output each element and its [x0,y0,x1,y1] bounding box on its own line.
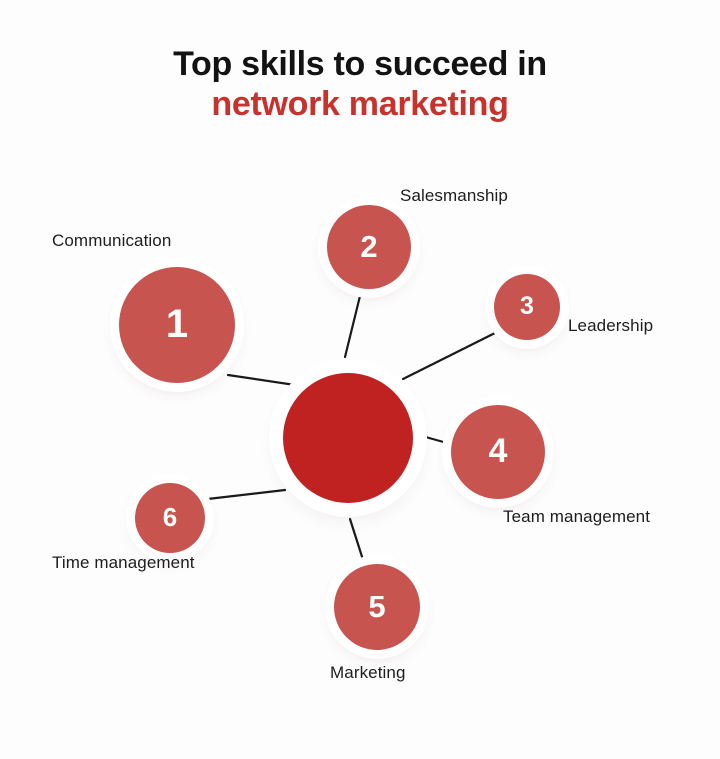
skill-node-6[interactable]: 6 [135,483,205,553]
skill-node-number: 4 [489,434,508,468]
skill-label-6: Time management [52,553,195,573]
connector-line-4 [422,436,447,443]
connector-line-6 [199,490,285,500]
connector-line-2 [345,296,360,357]
skill-node-1[interactable]: 1 [119,267,235,383]
skill-node-2[interactable]: 2 [327,205,411,289]
skill-node-4[interactable]: 4 [451,405,545,499]
skill-node-number: 6 [163,504,177,530]
skill-label-5: Marketing [330,663,406,683]
hub-and-spoke-diagram: 1Communication2Salesmanship3Leadership4T… [0,0,720,759]
connector-line-3 [403,332,497,379]
skill-label-3: Leadership [568,316,653,336]
connector-line-1 [228,375,295,385]
skill-node-number: 2 [360,231,377,262]
skill-label-4: Team management [503,507,650,527]
skill-node-number: 5 [368,591,385,622]
skill-label-1: Communication [52,231,171,251]
infographic-canvas: Top skills to succeed in network marketi… [0,0,720,759]
hub-circle [283,373,413,503]
skill-node-number: 1 [166,304,188,344]
skill-node-3[interactable]: 3 [494,274,560,340]
skill-node-number: 3 [520,294,534,319]
connector-line-5 [350,519,364,563]
skill-label-2: Salesmanship [400,186,508,206]
skill-node-5[interactable]: 5 [334,564,420,650]
